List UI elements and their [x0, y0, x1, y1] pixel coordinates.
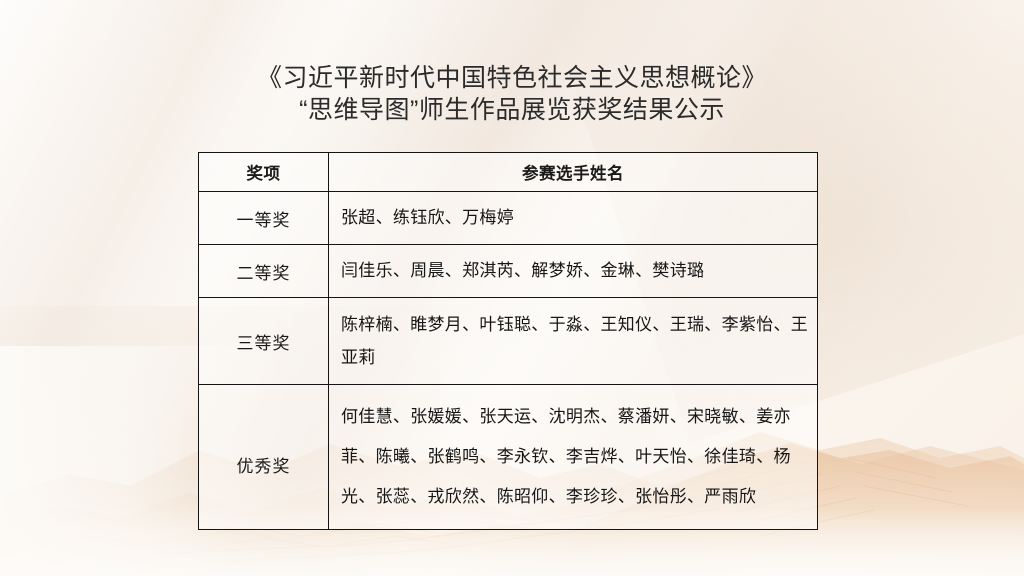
- column-header-award: 奖项: [199, 153, 329, 192]
- column-header-names: 参赛选手姓名: [329, 153, 818, 192]
- table-row: 二等奖 闫佳乐、周晨、郑淇芮、解梦娇、金琳、樊诗璐: [199, 245, 818, 298]
- award-names-excellence-prize: 何佳慧、张媛媛、张天运、沈明杰、蔡潘妍、宋晓敏、姜亦菲、陈曦、张鹤鸣、李永钦、李…: [329, 385, 818, 530]
- title-line-secondary: “思维导图”师生作品展览获奖结果公示: [0, 94, 1024, 126]
- table-row: 优秀奖 何佳慧、张媛媛、张天运、沈明杰、蔡潘妍、宋晓敏、姜亦菲、陈曦、张鹤鸣、李…: [199, 385, 818, 530]
- slide-canvas: 《习近平新时代中国特色社会主义思想概论》 “思维导图”师生作品展览获奖结果公示 …: [0, 0, 1024, 576]
- page-title: 《习近平新时代中国特色社会主义思想概论》 “思维导图”师生作品展览获奖结果公示: [0, 62, 1024, 126]
- award-names-third-prize: 陈梓楠、睢梦月、叶钰聪、于淼、王知仪、王瑞、李紫怡、王亚莉: [329, 298, 818, 385]
- table-header-row: 奖项 参赛选手姓名: [199, 153, 818, 192]
- award-table: 奖项 参赛选手姓名 一等奖 张超、练钰欣、万梅婷 二等奖 闫佳乐、周晨、郑淇芮、…: [198, 152, 818, 530]
- award-table-container: 奖项 参赛选手姓名 一等奖 张超、练钰欣、万梅婷 二等奖 闫佳乐、周晨、郑淇芮、…: [198, 152, 817, 530]
- award-names-second-prize: 闫佳乐、周晨、郑淇芮、解梦娇、金琳、樊诗璐: [329, 245, 818, 298]
- award-names-first-prize: 张超、练钰欣、万梅婷: [329, 192, 818, 245]
- table-row: 一等奖 张超、练钰欣、万梅婷: [199, 192, 818, 245]
- table-row: 三等奖 陈梓楠、睢梦月、叶钰聪、于淼、王知仪、王瑞、李紫怡、王亚莉: [199, 298, 818, 385]
- title-line-primary: 《习近平新时代中国特色社会主义思想概论》: [0, 62, 1024, 94]
- award-label-third-prize: 三等奖: [199, 298, 329, 385]
- award-label-second-prize: 二等奖: [199, 245, 329, 298]
- award-label-excellence-prize: 优秀奖: [199, 385, 329, 530]
- award-label-first-prize: 一等奖: [199, 192, 329, 245]
